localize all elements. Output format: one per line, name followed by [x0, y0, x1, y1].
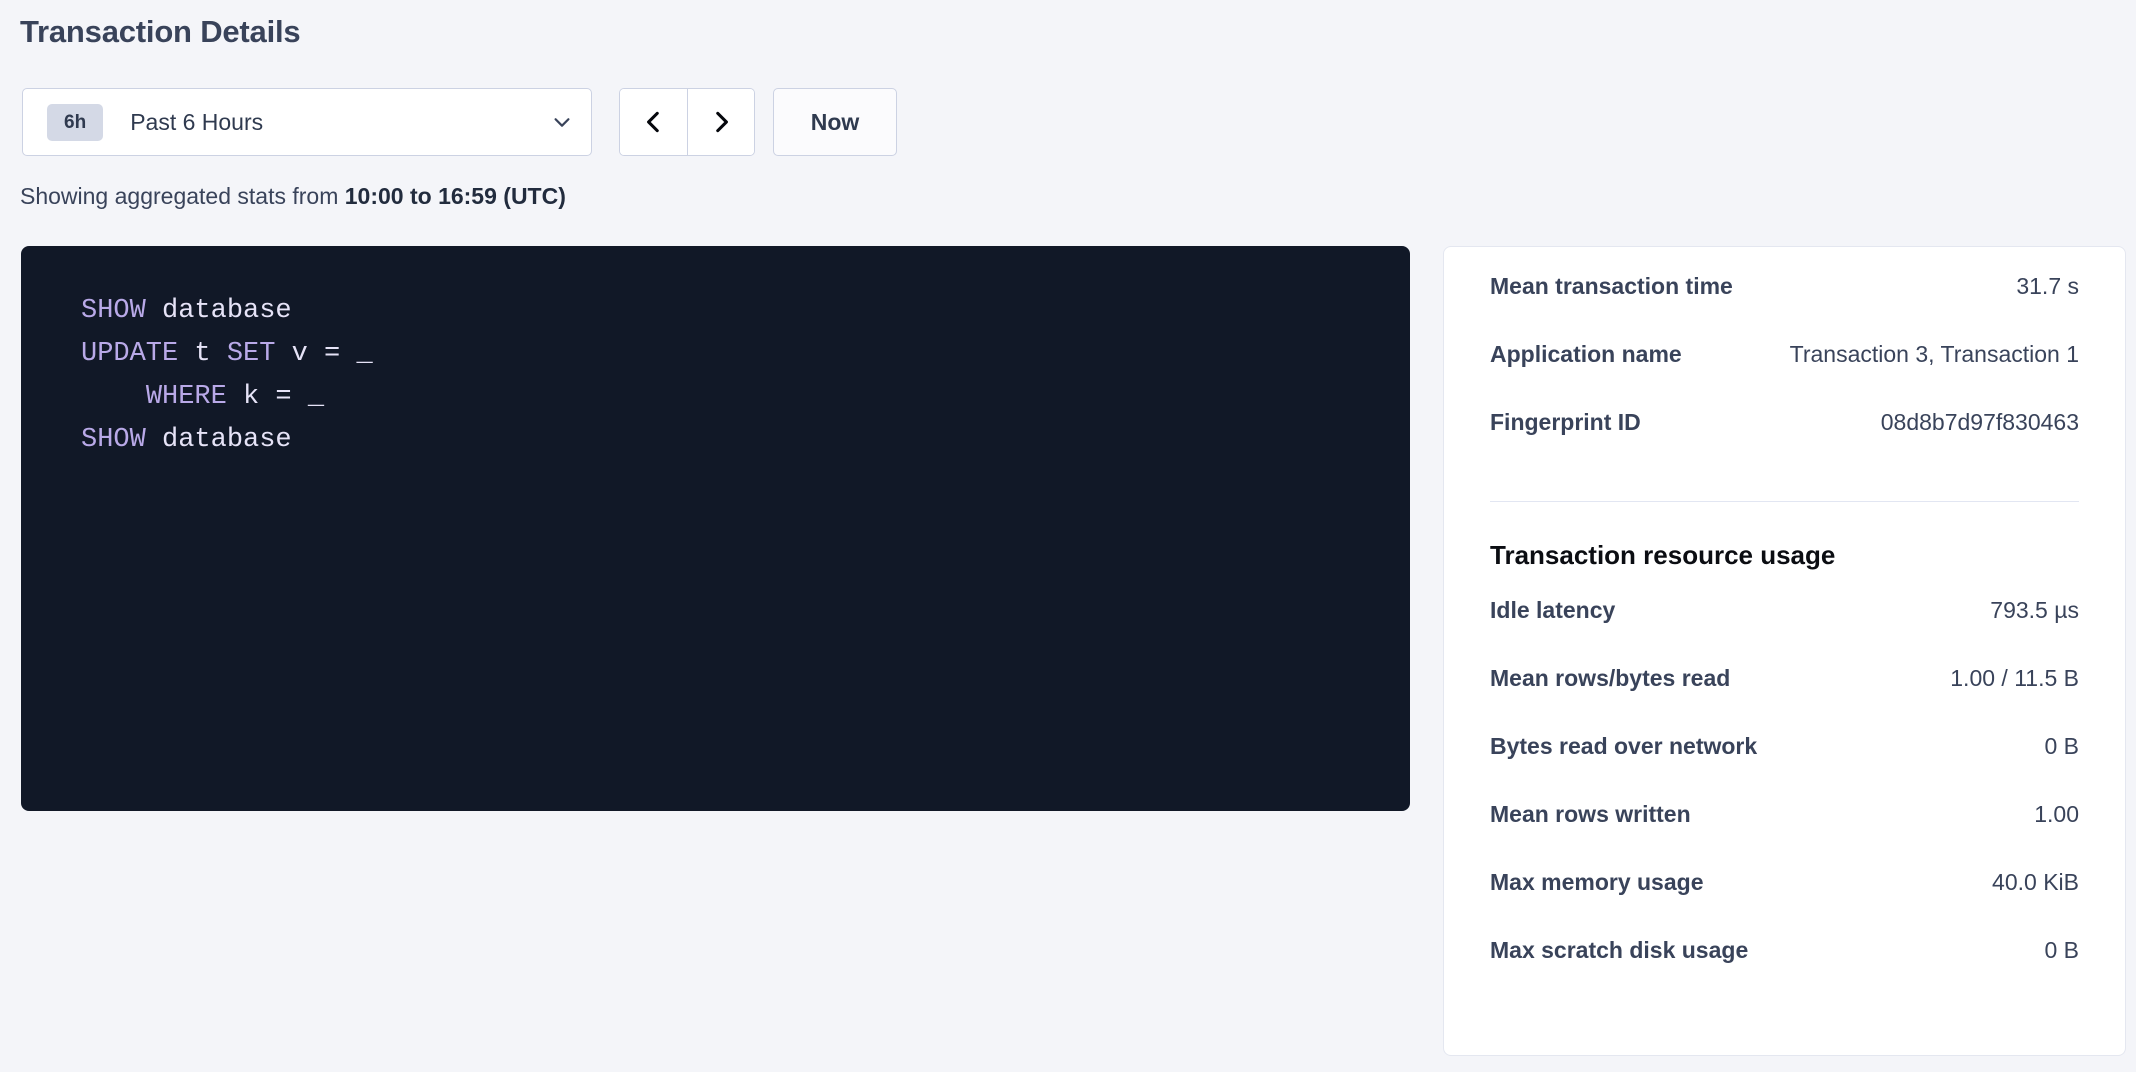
sql-identifier: [146, 425, 162, 455]
sql-identifier: t: [178, 339, 227, 369]
time-nav-group: [619, 88, 755, 156]
sql-keyword: SHOW: [81, 296, 146, 326]
detail-row-label: Application name: [1490, 341, 1682, 368]
detail-row-value: 40.0 KiB: [1992, 869, 2079, 896]
sql-identifier: k = _: [227, 382, 324, 412]
sql-keyword: WHERE: [146, 382, 227, 412]
resource-usage-list: Idle latency793.5 µsMean rows/bytes read…: [1490, 597, 2079, 1005]
transaction-details-card: Mean transaction time31.7 sApplication n…: [1443, 246, 2126, 1056]
detail-row-label: Mean transaction time: [1490, 273, 1733, 300]
sql-identifier: [146, 296, 162, 326]
sql-code-line: SHOW database: [81, 419, 1410, 462]
detail-row: Mean rows written1.00: [1490, 801, 2079, 869]
aggregation-range-text: Showing aggregated stats from 10:00 to 1…: [20, 183, 566, 210]
detail-row: Fingerprint ID08d8b7d97f830463: [1490, 409, 2079, 477]
sql-keyword: SHOW: [81, 425, 146, 455]
sql-keyword: SET: [227, 339, 276, 369]
detail-row: Mean rows/bytes read1.00 / 11.5 B: [1490, 665, 2079, 733]
detail-row-value: 08d8b7d97f830463: [1881, 409, 2079, 436]
sql-identifier: [81, 382, 146, 412]
detail-row: Idle latency793.5 µs: [1490, 597, 2079, 665]
card-divider: [1490, 501, 2079, 502]
sql-code-block: SHOW databaseUPDATE t SET v = _ WHERE k …: [81, 290, 1410, 462]
next-period-button[interactable]: [687, 89, 754, 155]
sql-code-line: SHOW database: [81, 290, 1410, 333]
sql-identifier: database: [162, 296, 292, 326]
detail-row: Bytes read over network0 B: [1490, 733, 2079, 801]
chevron-down-icon: [551, 111, 573, 133]
time-range-select[interactable]: 6h Past 6 Hours: [22, 88, 592, 156]
transaction-details-page: Transaction Details 6h Past 6 Hours Now: [0, 0, 2136, 1072]
sql-keyword: UPDATE: [81, 339, 178, 369]
detail-row-value: 793.5 µs: [1990, 597, 2079, 624]
time-range-badge: 6h: [47, 104, 103, 141]
detail-row-label: Mean rows/bytes read: [1490, 665, 1730, 692]
detail-row-value: 0 B: [2044, 733, 2079, 760]
sql-code-line: WHERE k = _: [81, 376, 1410, 419]
detail-row-value: 0 B: [2044, 937, 2079, 964]
aggregation-range-prefix: Showing aggregated stats from: [20, 183, 345, 209]
sql-code-line: UPDATE t SET v = _: [81, 333, 1410, 376]
time-range-label: Past 6 Hours: [130, 109, 551, 136]
resource-usage-title: Transaction resource usage: [1490, 540, 2079, 571]
aggregation-range-value: 10:00 to 16:59 (UTC): [345, 183, 566, 209]
sql-statement-panel[interactable]: SHOW databaseUPDATE t SET v = _ WHERE k …: [21, 246, 1410, 811]
detail-row-value: 31.7 s: [2016, 273, 2079, 300]
detail-row-label: Idle latency: [1490, 597, 1615, 624]
detail-row: Application nameTransaction 3, Transacti…: [1490, 341, 2079, 409]
previous-period-button[interactable]: [620, 89, 687, 155]
chevron-left-icon: [641, 107, 667, 137]
detail-row: Mean transaction time31.7 s: [1490, 273, 2079, 341]
detail-row-label: Bytes read over network: [1490, 733, 1757, 760]
chevron-right-icon: [708, 107, 734, 137]
detail-row-label: Max scratch disk usage: [1490, 937, 1748, 964]
detail-row-label: Max memory usage: [1490, 869, 1703, 896]
sql-identifier: v = _: [275, 339, 372, 369]
now-button[interactable]: Now: [773, 88, 897, 156]
detail-row-value: Transaction 3, Transaction 1: [1790, 341, 2079, 368]
detail-row-label: Fingerprint ID: [1490, 409, 1641, 436]
detail-row: Max memory usage40.0 KiB: [1490, 869, 2079, 937]
detail-row: Max scratch disk usage0 B: [1490, 937, 2079, 1005]
page-title: Transaction Details: [20, 14, 300, 50]
transaction-detail-list: Mean transaction time31.7 sApplication n…: [1490, 273, 2079, 477]
detail-row-label: Mean rows written: [1490, 801, 1691, 828]
detail-row-value: 1.00 / 11.5 B: [1950, 665, 2079, 692]
time-range-toolbar: 6h Past 6 Hours Now: [22, 88, 897, 156]
sql-identifier: database: [162, 425, 292, 455]
detail-row-value: 1.00: [2034, 801, 2079, 828]
